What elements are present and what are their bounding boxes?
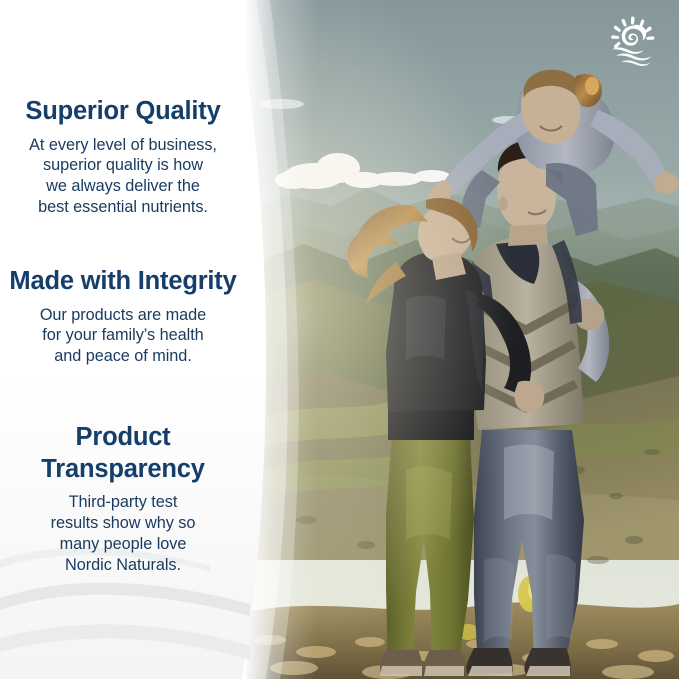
value-title-line-1: Made with xyxy=(9,267,130,295)
value-block-made-with-integrity: Made with Integrity Our products are mad… xyxy=(8,266,238,367)
family-mountain-photo xyxy=(246,0,679,679)
value-block-superior-quality: Superior Quality At every level of busin… xyxy=(8,96,238,218)
value-body-line: and peace of mind. xyxy=(8,346,238,367)
value-title: Made with Integrity xyxy=(8,266,238,298)
value-body-line: many people love xyxy=(8,534,238,555)
value-block-product-transparency: Product Transparency Third-party test re… xyxy=(8,422,238,576)
value-body-line: At every level of business, xyxy=(8,135,238,156)
values-text-column: Superior Quality At every level of busin… xyxy=(0,0,246,679)
value-body-line: best essential nutrients. xyxy=(8,197,238,218)
value-body-line: Third-party test xyxy=(8,492,238,513)
sun-and-waves-logo xyxy=(605,14,661,66)
value-body-line: results show why so xyxy=(8,513,238,534)
value-body: At every level of business, superior qua… xyxy=(8,135,238,218)
brand-values-graphic: Superior Quality At every level of busin… xyxy=(0,0,679,679)
value-body-line: for your family’s health xyxy=(8,325,238,346)
value-title-line-1: Superior xyxy=(25,97,128,125)
value-body-line: Nordic Naturals. xyxy=(8,555,238,576)
value-title-line-2: Quality xyxy=(136,97,221,125)
value-title-line-2: Transparency xyxy=(41,455,204,483)
value-body-line: we always deliver the xyxy=(8,176,238,197)
value-title-line-2: Integrity xyxy=(138,267,237,295)
value-title: Product Transparency xyxy=(8,422,238,485)
value-title-line-1: Product xyxy=(76,423,171,451)
value-body: Our products are made for your family’s … xyxy=(8,305,238,368)
value-title: Superior Quality xyxy=(8,96,238,128)
value-body-line: superior quality is how xyxy=(8,155,238,176)
value-body: Third-party test results show why so man… xyxy=(8,492,238,575)
value-body-line: Our products are made xyxy=(8,305,238,326)
